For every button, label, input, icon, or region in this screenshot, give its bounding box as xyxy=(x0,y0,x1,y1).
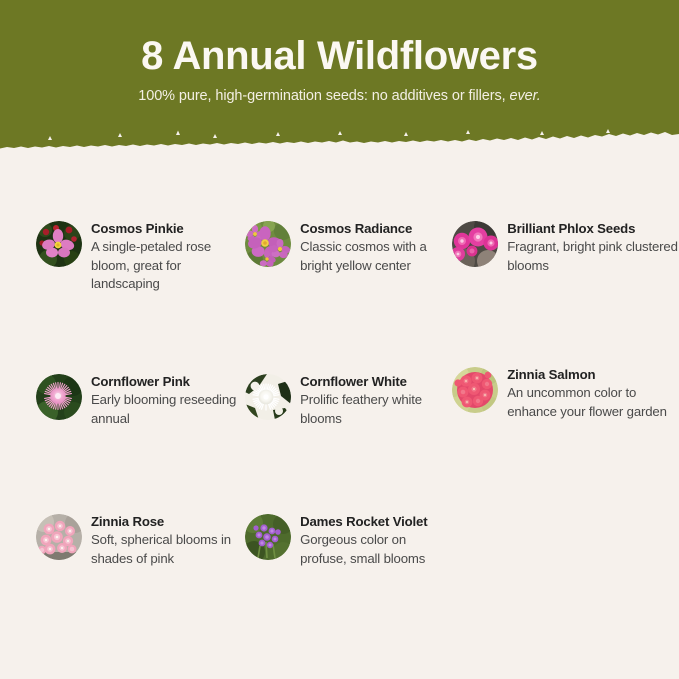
item-description: An uncommon color to enhance your flower… xyxy=(507,384,679,420)
cornflower-white-thumbnail-icon xyxy=(245,374,291,420)
list-item[interactable]: Zinnia Rose Soft, spherical blooms in sh… xyxy=(0,506,240,656)
item-description: Early blooming reseeding annual xyxy=(91,391,240,427)
empty-cell xyxy=(447,506,679,656)
list-item[interactable]: Brilliant Phlox Seeds Fragrant, bright p… xyxy=(447,206,679,364)
wildflower-seed-infographic: 8 Annual Wildflowers 100% pure, high-ger… xyxy=(0,0,679,679)
item-description: Classic cosmos with a bright yellow cent… xyxy=(300,238,447,274)
item-title: Cornflower White xyxy=(300,373,447,390)
subtitle-emphasis-text: ever. xyxy=(510,88,541,104)
list-item[interactable]: Cosmos Pinkie A single-petaled rose bloo… xyxy=(0,206,240,364)
page-subtitle: 100% pure, high-germination seeds: no ad… xyxy=(0,88,679,104)
item-title: Dames Rocket Violet xyxy=(300,513,447,530)
item-description: Prolific feathery white blooms xyxy=(300,391,447,427)
item-description: Gorgeous color on profuse, small blooms xyxy=(300,531,447,567)
item-title: Cosmos Radiance xyxy=(300,220,447,237)
item-title: Zinnia Rose xyxy=(91,513,240,530)
item-title: Cornflower Pink xyxy=(91,373,240,390)
item-title: Zinnia Salmon xyxy=(507,366,679,383)
list-row: Cornflower Pink Early blooming reseeding… xyxy=(0,364,679,506)
cornflower-pink-thumbnail-icon xyxy=(36,374,82,420)
list-row: Zinnia Rose Soft, spherical blooms in sh… xyxy=(0,506,679,656)
item-title: Brilliant Phlox Seeds xyxy=(507,220,679,237)
zinnia-salmon-thumbnail-icon xyxy=(452,367,498,413)
brilliant-phlox-thumbnail-icon xyxy=(452,221,498,267)
torn-paper-edge xyxy=(0,110,679,150)
list-item[interactable]: Cosmos Radiance Classic cosmos with a br… xyxy=(240,206,447,364)
item-description: Soft, spherical blooms in shades of pink xyxy=(91,531,240,567)
list-row: Cosmos Pinkie A single-petaled rose bloo… xyxy=(0,206,679,364)
list-item[interactable]: Zinnia Salmon An uncommon color to enhan… xyxy=(447,364,679,506)
item-description: Fragrant, bright pink clustered blooms xyxy=(507,238,679,274)
header-banner: 8 Annual Wildflowers 100% pure, high-ger… xyxy=(0,0,679,150)
cosmos-radiance-thumbnail-icon xyxy=(245,221,291,267)
list-item[interactable]: Dames Rocket Violet Gorgeous color on pr… xyxy=(240,506,447,656)
page-title: 8 Annual Wildflowers xyxy=(0,34,679,79)
item-description: A single-petaled rose bloom, great for l… xyxy=(91,238,240,293)
list-item[interactable]: Cornflower White Prolific feathery white… xyxy=(240,364,447,506)
item-title: Cosmos Pinkie xyxy=(91,220,240,237)
subtitle-main-text: 100% pure, high-germination seeds: no ad… xyxy=(138,88,509,104)
cosmos-pinkie-thumbnail-icon xyxy=(36,221,82,267)
zinnia-rose-thumbnail-icon xyxy=(36,514,82,560)
list-item[interactable]: Cornflower Pink Early blooming reseeding… xyxy=(0,364,240,506)
dames-rocket-violet-thumbnail-icon xyxy=(245,514,291,560)
wildflower-list: Cosmos Pinkie A single-petaled rose bloo… xyxy=(0,206,679,656)
